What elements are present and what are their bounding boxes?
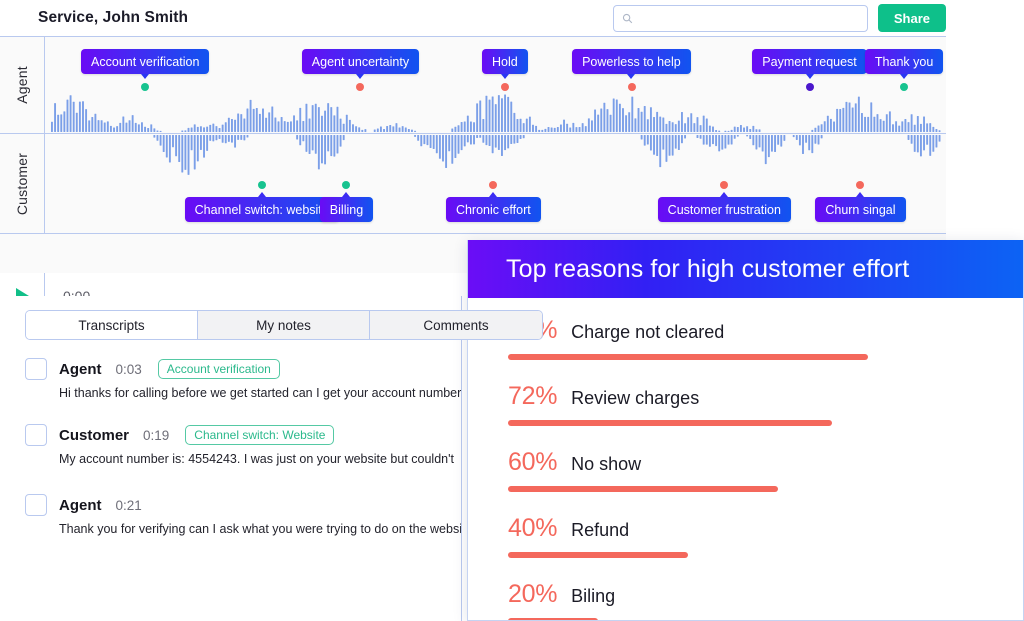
timeline-tag[interactable]: Agent uncertainty	[302, 49, 419, 74]
timeline-tag[interactable]: Customer frustration	[658, 197, 791, 222]
search-input[interactable]	[639, 12, 859, 24]
timeline-marker-dot[interactable]	[141, 83, 149, 91]
transcript-tag-chip[interactable]: Account verification	[158, 359, 280, 379]
transcript-entry-checkbox[interactable]	[25, 358, 47, 380]
card-header: Top reasons for high customer effort	[468, 240, 1023, 298]
chart-bar	[508, 420, 832, 426]
timeline-tag[interactable]: Billing	[320, 197, 373, 222]
chart-bar-labels: 80%Charge not cleared	[508, 316, 1023, 345]
chart-bar-value: 60%	[508, 448, 557, 477]
chart-bar-row: 80%Charge not cleared	[508, 316, 1023, 360]
customer-track-body[interactable]: Channel switch: websiteBillingChronic ef…	[45, 134, 946, 233]
tab-bar: Transcripts My notes Comments	[25, 310, 543, 340]
app-root: Service, John Smith Share Agent Account …	[0, 0, 1024, 621]
timeline-tag[interactable]: Payment request	[752, 49, 867, 74]
track-label-agent: Agent	[0, 37, 45, 133]
chart-bar-category: Review charges	[571, 388, 699, 409]
transcript-speaker: Customer	[59, 427, 129, 444]
share-button[interactable]: Share	[878, 4, 946, 32]
transcript-entry: Agent0:21Thank you for verifying can I a…	[25, 494, 462, 536]
chart-bar-category: No show	[571, 454, 641, 475]
transcript-entry-header: Customer0:19Channel switch: Website	[25, 424, 462, 446]
chart-bar-category: Refund	[571, 520, 629, 541]
search-icon	[622, 13, 633, 24]
transcript-utterance: Hi thanks for calling before we get star…	[59, 386, 462, 400]
chart-bar-category: Charge not cleared	[571, 322, 724, 343]
track-label-customer: Customer	[0, 134, 45, 233]
chart-bar-row: 72%Review charges	[508, 382, 1023, 426]
card-title: Top reasons for high customer effort	[506, 255, 909, 284]
chart-bar-row: 40%Refund	[508, 514, 1023, 558]
timeline-tag[interactable]: Thank you	[865, 49, 943, 74]
transcript-utterance: My account number is: 4554243. I was jus…	[59, 452, 462, 466]
page-title: Service, John Smith	[38, 9, 188, 27]
agent-track-body[interactable]: Account verificationAgent uncertaintyHol…	[45, 37, 946, 133]
chart-bar-value: 72%	[508, 382, 557, 411]
tab-my-notes[interactable]: My notes	[198, 311, 370, 339]
timeline-tag[interactable]: Churn singal	[815, 197, 905, 222]
chart-bar-value: 20%	[508, 580, 557, 609]
transcript-timestamp[interactable]: 0:21	[116, 498, 142, 513]
transcript-utterance: Thank you for verifying can I ask what y…	[59, 522, 462, 536]
timeline-tag[interactable]: Powerless to help	[572, 49, 691, 74]
transcript-entry-header: Agent0:03Account verification	[25, 358, 462, 380]
transcript-timestamp[interactable]: 0:19	[143, 428, 169, 443]
timeline-marker-dot[interactable]	[628, 83, 636, 91]
chart-bar-labels: 40%Refund	[508, 514, 1023, 543]
chart-bar	[508, 552, 688, 558]
transcript-timestamp[interactable]: 0:03	[116, 362, 142, 377]
track-label-agent-text: Agent	[14, 66, 30, 104]
chart-bar-value: 40%	[508, 514, 557, 543]
top-reasons-card: Top reasons for high customer effort 80%…	[467, 240, 1024, 621]
transcript-entry: Agent0:03Account verificationHi thanks f…	[25, 358, 462, 400]
chart-bar-category: Biling	[571, 586, 615, 607]
timeline-tag[interactable]: Channel switch: website	[185, 197, 339, 222]
chart-bar-labels: 60%No show	[508, 448, 1023, 477]
timeline-tag[interactable]: Account verification	[81, 49, 209, 74]
app-header: Service, John Smith Share	[0, 0, 946, 36]
timeline-tag[interactable]: Chronic effort	[446, 197, 541, 222]
timeline-marker-dot[interactable]	[806, 83, 814, 91]
transcript-entry: Customer0:19Channel switch: WebsiteMy ac…	[25, 424, 462, 466]
tab-transcripts[interactable]: Transcripts	[26, 311, 198, 339]
chart-bar-row: 60%No show	[508, 448, 1023, 492]
search-box[interactable]	[613, 5, 868, 32]
timeline-track-agent: Agent Account verificationAgent uncertai…	[0, 37, 946, 134]
transcript-entry-checkbox[interactable]	[25, 494, 47, 516]
chart-bar-row: 20%Biling	[508, 580, 1023, 621]
transcript-speaker: Agent	[59, 361, 102, 378]
chart-bar-labels: 72%Review charges	[508, 382, 1023, 411]
timeline-marker-dot[interactable]	[501, 83, 509, 91]
track-label-customer-text: Customer	[14, 152, 30, 214]
chart-body: 80%Charge not cleared72%Review charges60…	[468, 298, 1023, 621]
timeline-track-customer: Customer Channel switch: websiteBillingC…	[0, 134, 946, 234]
timeline-marker-dot[interactable]	[900, 83, 908, 91]
timeline-tag[interactable]: Hold	[482, 49, 528, 74]
transcript-speaker: Agent	[59, 497, 102, 514]
timeline-marker-dot[interactable]	[258, 181, 266, 189]
chart-bar	[508, 354, 868, 360]
transcript-tag-chip[interactable]: Channel switch: Website	[185, 425, 334, 445]
transcript-pane: Agent0:03Account verificationHi thanks f…	[0, 296, 462, 621]
chart-bar-labels: 20%Biling	[508, 580, 1023, 609]
transcript-entry-checkbox[interactable]	[25, 424, 47, 446]
transcript-entry-header: Agent0:21	[25, 494, 462, 516]
tab-comments[interactable]: Comments	[370, 311, 542, 339]
chart-bar	[508, 486, 778, 492]
header-actions: Share	[613, 4, 946, 32]
